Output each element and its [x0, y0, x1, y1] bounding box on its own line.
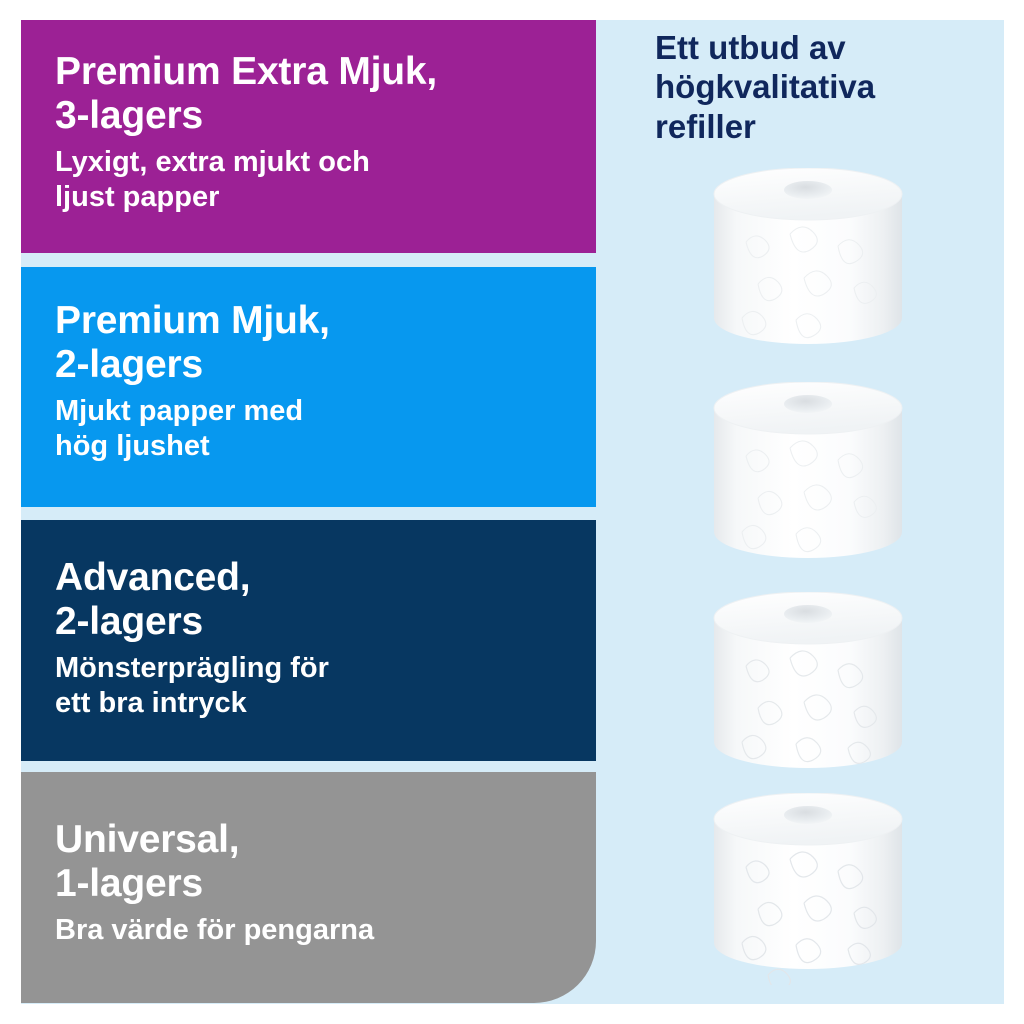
tier-card-premium-mjuk: Premium Mjuk, 2-lagers Mjukt papper med …: [21, 267, 596, 507]
toilet-paper-roll-image: [708, 793, 908, 985]
tier-card-premium-extra-mjuk: Premium Extra Mjuk, 3-lagers Lyxigt, ext…: [21, 20, 596, 253]
tier-description: Bra värde för pengarna: [55, 913, 562, 948]
tier-title: Premium Mjuk, 2-lagers: [55, 293, 562, 388]
tier-card-universal: Universal, 1-lagers Bra värde för pengar…: [21, 772, 596, 1003]
tier-card-advanced: Advanced, 2-lagers Mönsterprägling för e…: [21, 520, 596, 761]
tier-description: Mönsterprägling för ett bra intryck: [55, 651, 562, 722]
toilet-paper-roll-image: [708, 168, 908, 360]
tier-description: Lyxigt, extra mjukt och ljust papper: [55, 145, 562, 216]
refills-heading: Ett utbud av högkvalitativa refiller: [655, 28, 975, 146]
toilet-paper-roll-image: [708, 382, 908, 574]
product-tier-infographic: Premium Extra Mjuk, 3-lagers Lyxigt, ext…: [0, 0, 1024, 1024]
tier-description: Mjukt papper med hög ljushet: [55, 394, 562, 465]
tier-title: Advanced, 2-lagers: [55, 546, 562, 645]
tier-title: Universal, 1-lagers: [55, 818, 562, 907]
tier-title: Premium Extra Mjuk, 3-lagers: [55, 46, 562, 139]
toilet-paper-roll-image: [708, 592, 908, 784]
